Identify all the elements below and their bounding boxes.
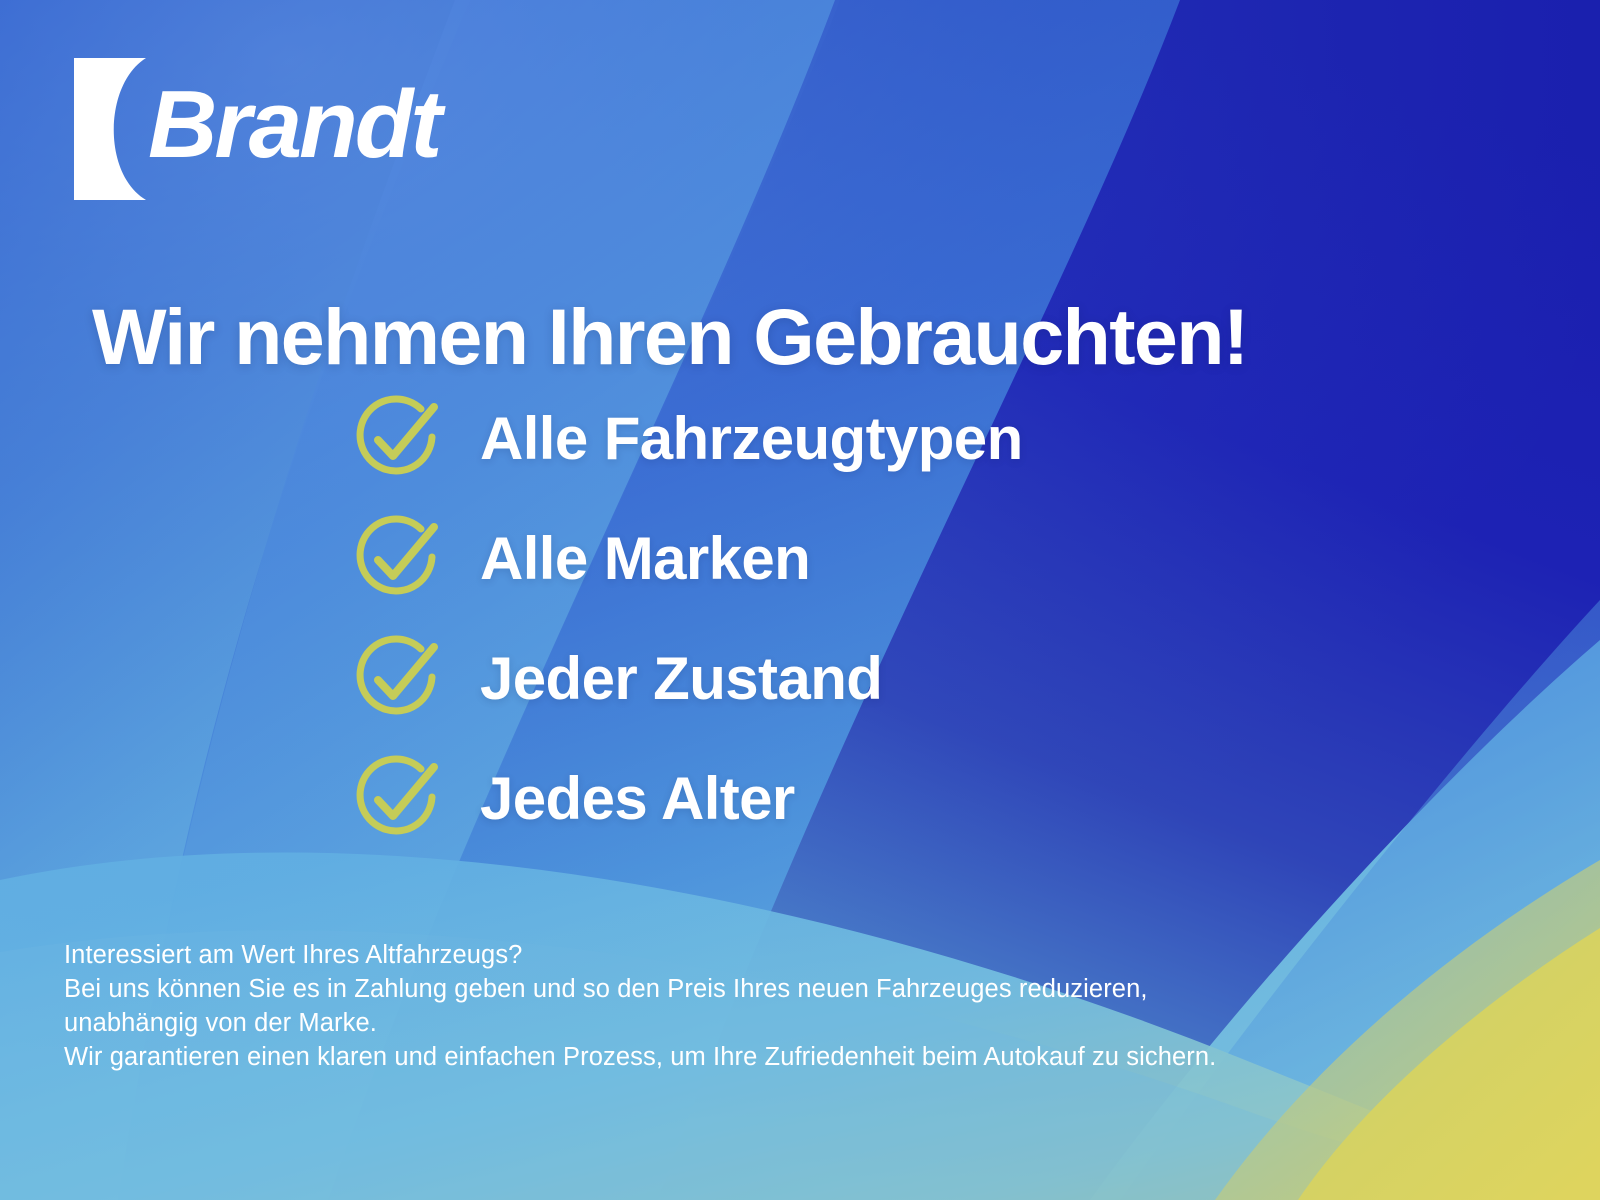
circle-check-icon [350,753,442,845]
brand-logo: Brandt [74,58,439,200]
circle-check-icon [350,393,442,485]
brandt-bracket-mark-icon [74,58,146,200]
footer-line: Wir garantieren einen klaren und einfach… [64,1040,1544,1074]
list-item: Alle Marken [352,518,1023,600]
brand-name: Brandt [148,77,439,173]
footer-line: unabhängig von der Marke. [64,1006,1544,1040]
list-item: Jeder Zustand [352,638,1023,720]
footer-line: Interessiert am Wert Ihres Altfahrzeugs? [64,938,1544,972]
list-item: Jedes Alter [352,758,1023,840]
circle-check-icon [350,513,442,605]
footer-description: Interessiert am Wert Ihres Altfahrzeugs?… [64,938,1544,1074]
list-item: Alle Fahrzeugtypen [352,398,1023,480]
circle-check-icon [350,633,442,725]
list-item-label: Jedes Alter [480,769,795,829]
benefits-list: Alle Fahrzeugtypen Alle Marken Jeder Zus… [352,398,1023,840]
list-item-label: Alle Fahrzeugtypen [480,409,1023,469]
list-item-label: Jeder Zustand [480,649,882,709]
page-title: Wir nehmen Ihren Gebrauchten! [92,295,1248,379]
promo-poster: Brandt Wir nehmen Ihren Gebrauchten! All… [0,0,1600,1200]
footer-line: Bei uns können Sie es in Zahlung geben u… [64,972,1544,1006]
list-item-label: Alle Marken [480,529,810,589]
